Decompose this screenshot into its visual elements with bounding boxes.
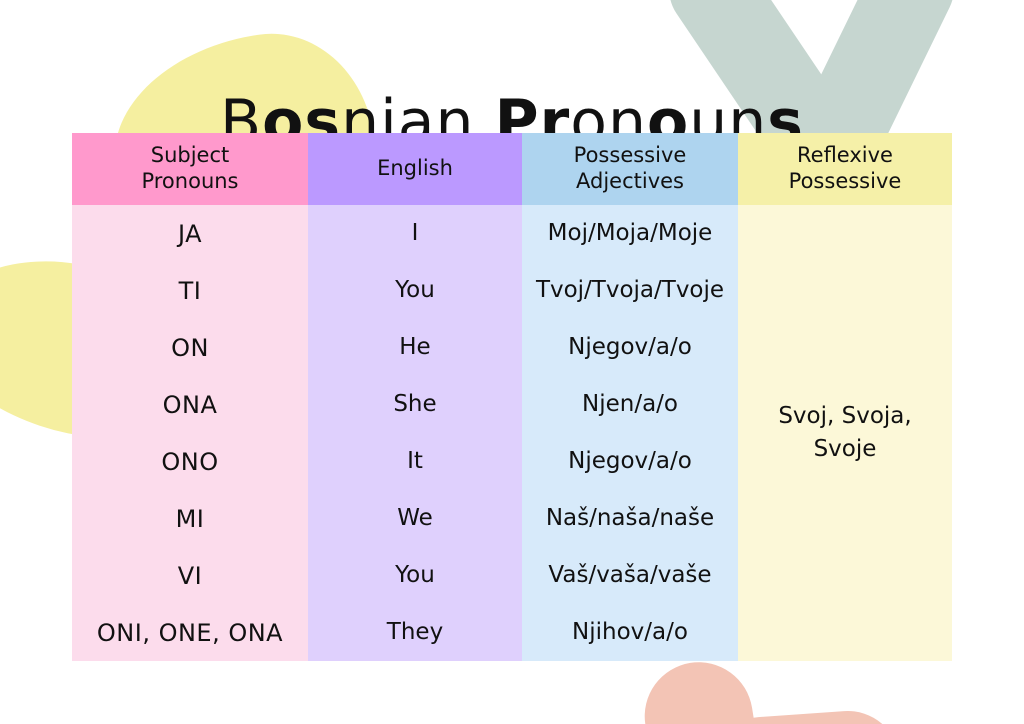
- cell-english: We: [308, 490, 522, 547]
- column-header-reflexive-possessive: Reflexive Possessive: [738, 133, 952, 205]
- table-header-row: Subject Pronouns English Possessive Adje…: [72, 133, 952, 205]
- cell-subject-pronoun: MI: [72, 490, 308, 547]
- cell-english: I: [308, 205, 522, 262]
- cell-subject-pronoun: ON: [72, 319, 308, 376]
- column-header-line: Possessive: [522, 143, 738, 169]
- cell-possessive-adjective: Njegov/a/o: [522, 319, 738, 376]
- cell-possessive-adjective: Njihov/a/o: [522, 604, 738, 661]
- cell-possessive-adjective: Vaš/vaša/vaše: [522, 547, 738, 604]
- cell-english: You: [308, 262, 522, 319]
- cell-subject-pronoun: ONA: [72, 376, 308, 433]
- column-header-line: Subject: [72, 143, 308, 169]
- cell-english: She: [308, 376, 522, 433]
- cell-english: They: [308, 604, 522, 661]
- column-header-line: Adjectives: [522, 169, 738, 195]
- table-body: JA I Moj/Moja/Moje Svoj, Svoja, Svoje TI…: [72, 205, 952, 661]
- table-header: Subject Pronouns English Possessive Adje…: [72, 133, 952, 205]
- table-row: JA I Moj/Moja/Moje Svoj, Svoja, Svoje: [72, 205, 952, 262]
- column-header-line: Pronouns: [72, 169, 308, 195]
- pronoun-table: Subject Pronouns English Possessive Adje…: [72, 133, 952, 661]
- cell-subject-pronoun: ONI, ONE, ONA: [72, 604, 308, 661]
- cell-english: You: [308, 547, 522, 604]
- reflexive-line: Svoj, Svoja,: [738, 400, 952, 433]
- reflexive-line: Svoje: [738, 433, 952, 466]
- poster-canvas: Bosnian Pronouns Subject Pronouns Englis…: [0, 0, 1024, 724]
- salmon-blob-upper-lobe: [637, 654, 767, 724]
- cell-possessive-adjective: Tvoj/Tvoja/Tvoje: [522, 262, 738, 319]
- cell-subject-pronoun: JA: [72, 205, 308, 262]
- salmon-blob-decoration: [648, 662, 948, 724]
- column-header-english: English: [308, 133, 522, 205]
- column-header-possessive-adjectives: Possessive Adjectives: [522, 133, 738, 205]
- cell-possessive-adjective: Moj/Moja/Moje: [522, 205, 738, 262]
- cell-possessive-adjective: Njen/a/o: [522, 376, 738, 433]
- column-header-line: English: [308, 156, 522, 182]
- cell-subject-pronoun: TI: [72, 262, 308, 319]
- cell-subject-pronoun: ONO: [72, 433, 308, 490]
- cell-possessive-adjective: Njegov/a/o: [522, 433, 738, 490]
- column-header-line: Possessive: [738, 169, 952, 195]
- cell-possessive-adjective: Naš/naša/naše: [522, 490, 738, 547]
- cell-english: It: [308, 433, 522, 490]
- cell-reflexive-possessive: Svoj, Svoja, Svoje: [738, 205, 952, 661]
- cell-english: He: [308, 319, 522, 376]
- column-header-subject-pronouns: Subject Pronouns: [72, 133, 308, 205]
- cell-subject-pronoun: VI: [72, 547, 308, 604]
- column-header-line: Reflexive: [738, 143, 952, 169]
- salmon-blob-lower-lobe: [707, 707, 904, 724]
